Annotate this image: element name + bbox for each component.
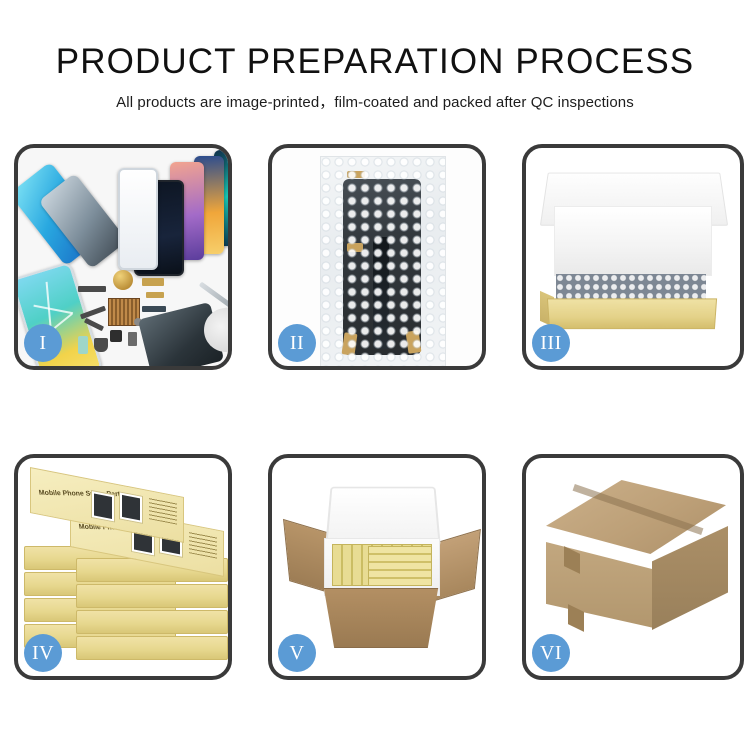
step-panel-1[interactable]: I [14,144,232,370]
packed-inner-boxes [368,546,432,586]
box-front-panel [547,298,717,329]
stacked-box [76,636,228,660]
carton-left-panel [546,542,654,628]
box-feature-list [149,497,177,524]
step-panel-5[interactable]: V [268,454,486,680]
step-panel-3[interactable]: III [522,144,744,370]
page-title: PRODUCT PREPARATION PROCESS [0,0,750,82]
bubble-wrap-bag [320,156,446,366]
stacked-box [76,584,228,608]
speaker-mesh-part [94,338,108,352]
battery-part [78,336,88,354]
step-badge-5: V [278,634,316,672]
step-badge-1: I [24,324,62,362]
speaker-part [78,286,106,292]
product-preparation-page: PRODUCT PREPARATION PROCESS All products… [0,0,750,750]
page-subtitle: All products are image-printed，film-coat… [0,82,750,112]
step-panel-4[interactable]: Mobile Phone Spare Parts Mobile Phone Sp… [14,454,232,680]
carton-front-panel [316,588,446,648]
step-panel-6[interactable]: VI [522,454,744,680]
sim-tray-part [128,332,137,346]
box-feature-list [189,531,217,558]
box-artwork-thumb [119,491,143,524]
header: PRODUCT PREPARATION PROCESS All products… [0,0,750,112]
step-badge-2: II [278,324,316,362]
step-badge-3: III [532,324,570,362]
flex-connector-part [142,278,164,286]
step-badge-6: VI [532,634,570,672]
white-foam-sheet [554,206,712,276]
camera-module-part [142,306,166,312]
crack-line [33,305,73,315]
process-step-grid: I II [14,144,742,680]
stacked-box [76,610,228,634]
step-panel-2[interactable]: II [268,144,486,370]
flex-connector-part [146,292,164,298]
vibration-motor-part [113,270,133,290]
phone-glass-panel [118,168,158,270]
step-badge-4: IV [24,634,62,672]
box-artwork-thumb [91,490,115,523]
bubble-texture [321,157,445,366]
button-part [110,330,122,342]
